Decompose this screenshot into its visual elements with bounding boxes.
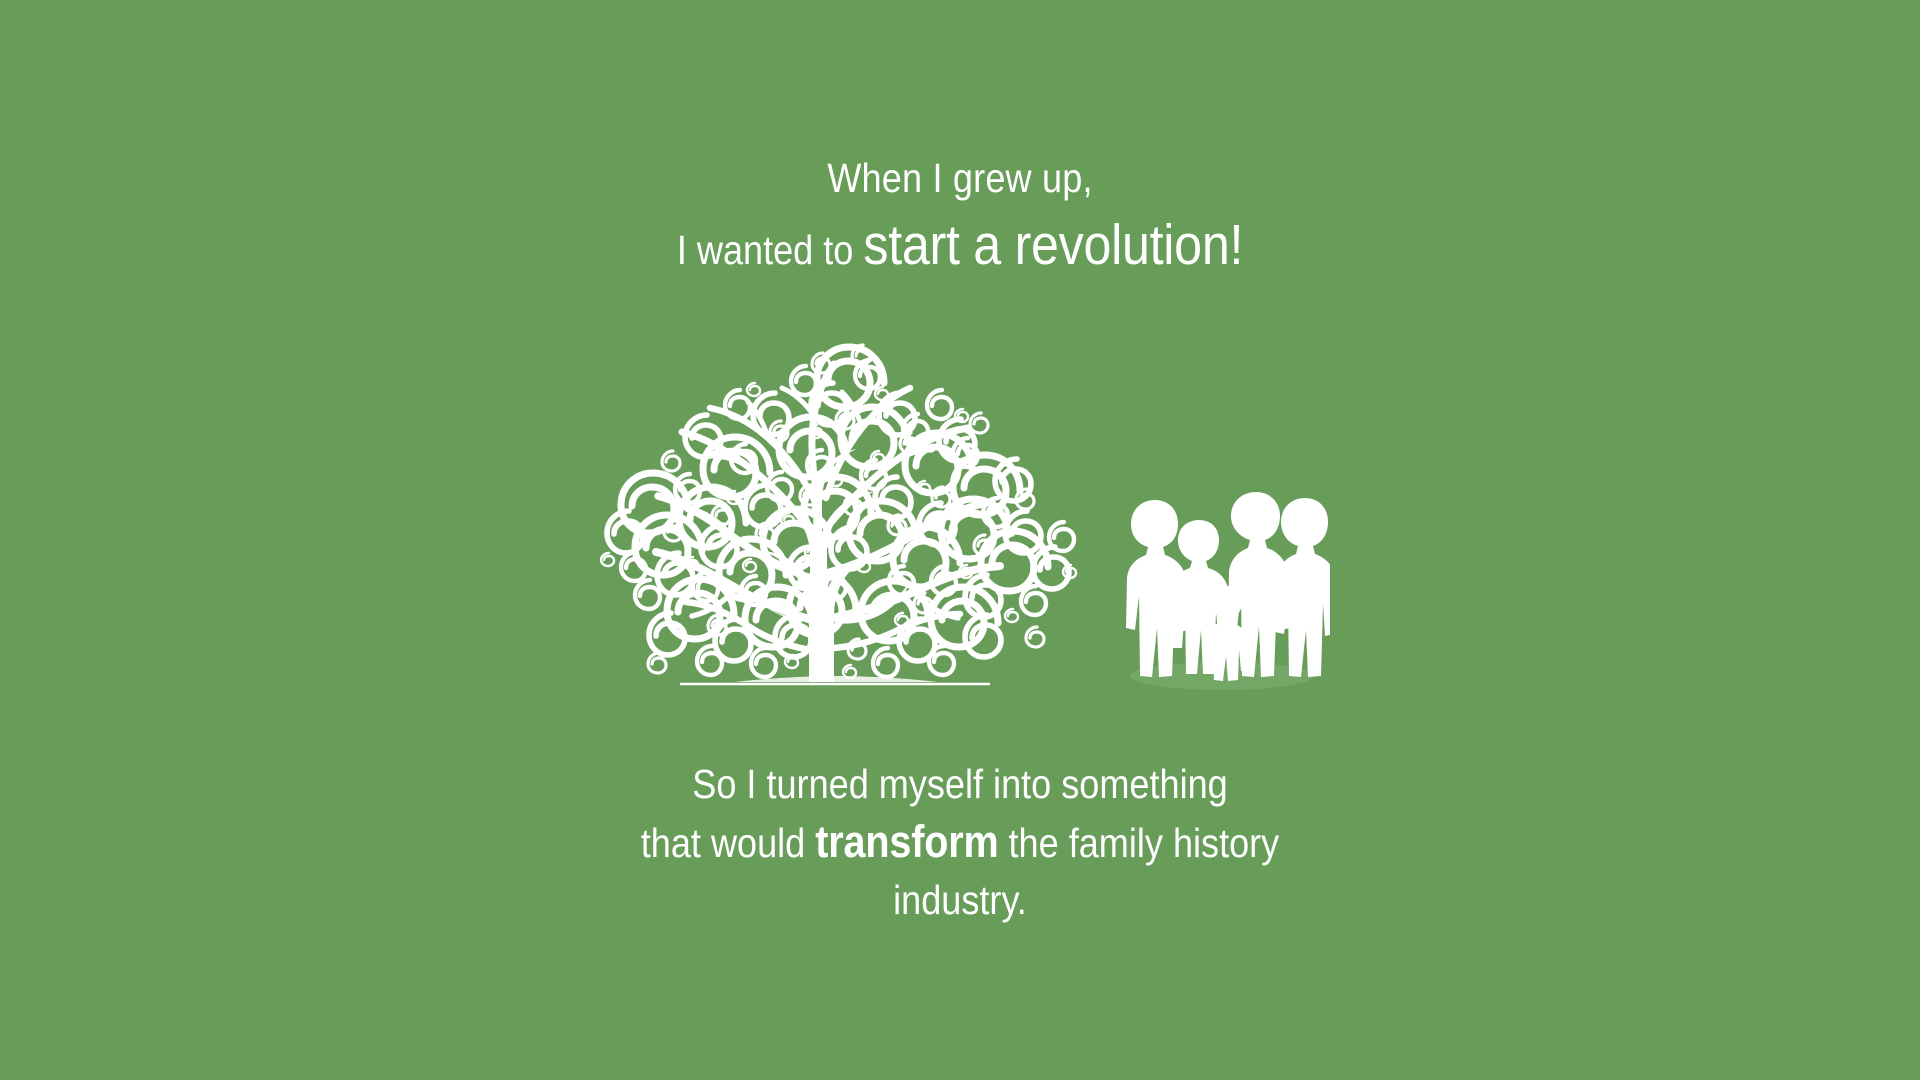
subline-row-2-light-after: the family history (999, 820, 1280, 866)
subline-row-2-strong: transform (815, 816, 998, 867)
subline-row-2: that would transform the family history (115, 817, 1805, 876)
subline-block: So I turned myself into something that w… (0, 760, 1920, 933)
headline-line-2: I wanted to start a revolution! (115, 217, 1805, 274)
subline-row-2-light-before: that would (641, 820, 816, 866)
subline-row-3-text: industry. (893, 877, 1027, 923)
family-group-silhouette-icon (1115, 480, 1330, 695)
headline-block: When I grew up, I wanted to start a revo… (0, 158, 1920, 274)
artwork-group (560, 320, 1370, 700)
headline-line-1: When I grew up, (115, 158, 1805, 199)
family-figures (1126, 492, 1330, 681)
subline-row-1: So I turned myself into something (115, 760, 1805, 817)
swirl-tree-icon (560, 320, 1120, 700)
subline-row-1-text: So I turned myself into something (692, 761, 1227, 807)
subline-row-3: industry. (115, 876, 1805, 933)
slide-canvas: When I grew up, I wanted to start a revo… (0, 0, 1920, 1080)
headline-line-2-strong: start a revolution! (863, 213, 1243, 277)
headline-line-2-light: I wanted to (677, 227, 864, 273)
